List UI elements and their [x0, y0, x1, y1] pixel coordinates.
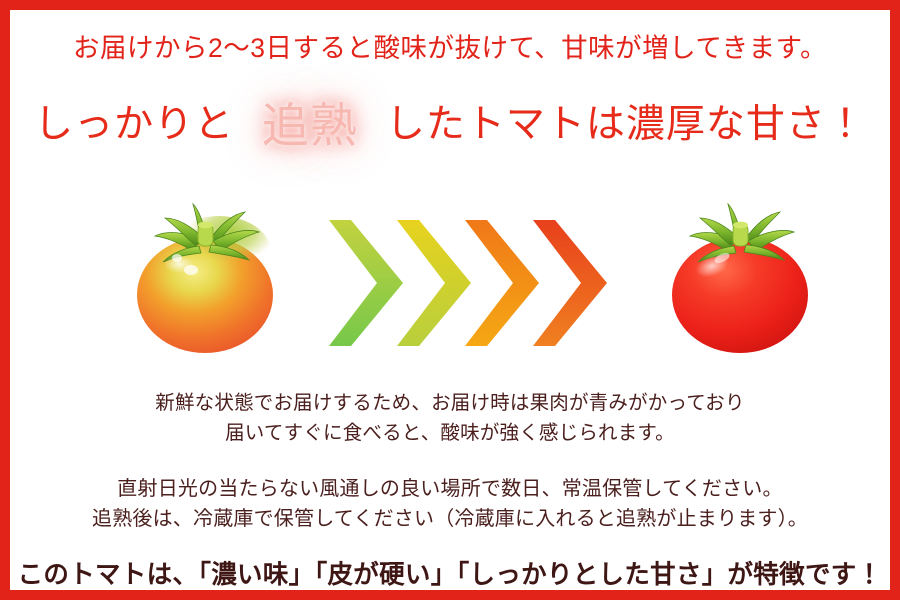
highlight-word-tsuijuku: 追熟: [246, 102, 374, 149]
chevron-1: [329, 220, 403, 346]
lead-line: お届けから2～3日すると酸味が抜けて、甘味が増してきます。: [10, 26, 890, 65]
poster-frame: お届けから2～3日すると酸味が抜けて、甘味が増してきます。 しっかりと 追熟 し…: [0, 0, 900, 600]
unripe-tomato-icon: [115, 190, 295, 370]
headline-prefix: しっかりと: [34, 103, 234, 146]
ripe-tomato-icon: [650, 190, 830, 370]
ripening-arrows: [325, 218, 615, 348]
paragraph-freshness: 新鮮な状態でお届けするため、お届け時は果肉が青みがかっており 届いてすぐに食べる…: [10, 388, 890, 448]
body-copy: 新鮮な状態でお届けするため、お届け時は果肉が青みがかっており 届いてすぐに食べる…: [10, 388, 890, 591]
closing-statement: このトマトは、「濃い味」「皮が硬い」「しっかりとした甘さ」が特徴です！: [10, 554, 890, 591]
main-headline: しっかりと 追熟 したトマトは濃厚な甘さ！: [10, 102, 890, 149]
paragraph-storage-line1: 直射日光の当たらない風通しの良い場所で数日、常温保管してください。: [10, 474, 890, 504]
chevron-4: [533, 220, 607, 346]
paragraph-freshness-line2: 届いてすぐに食べると、酸味が強く感じられます。: [10, 418, 890, 448]
paragraph-storage: 直射日光の当たらない風通しの良い場所で数日、常温保管してください。 追熟後は、冷…: [10, 474, 890, 534]
paragraph-freshness-line1: 新鮮な状態でお届けするため、お届け時は果肉が青みがかっており: [10, 388, 890, 418]
ripe-tomato-image: [650, 190, 830, 370]
unripe-tomato-image: [115, 190, 295, 370]
chevron-arrows-icon: [325, 218, 615, 348]
headline-area: お届けから2～3日すると酸味が抜けて、甘味が増してきます。 しっかりと 追熟 し…: [10, 10, 890, 185]
illustration-row: [10, 190, 890, 375]
paragraph-storage-line2: 追熟後は、冷蔵庫で保管してください（冷蔵庫に入れると追熟が止まります）。: [10, 504, 890, 534]
chevron-3: [465, 220, 539, 346]
headline-suffix: したトマトは濃厚な甘さ！: [386, 103, 866, 146]
chevron-2: [397, 220, 471, 346]
